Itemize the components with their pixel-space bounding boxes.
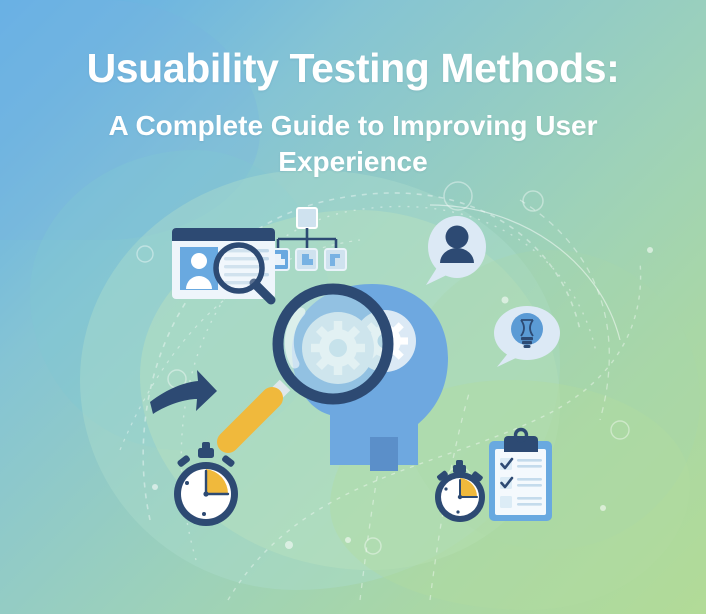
clipboard-icon	[489, 430, 552, 522]
person-speech-bubble	[426, 216, 486, 285]
browser-window-icon	[172, 228, 275, 300]
page-title: Usuability Testing Methods:	[0, 46, 706, 92]
heading-block: Usuability Testing Methods: A Complete G…	[0, 46, 706, 180]
stopwatch-icon	[174, 442, 238, 526]
poster-canvas: Usuability Testing Methods: A Complete G…	[0, 0, 706, 614]
page-subtitle: A Complete Guide to Improving User Exper…	[73, 108, 633, 180]
arrow-right-icon	[150, 370, 217, 414]
stopwatch-icon	[435, 460, 485, 522]
lightbulb-speech-bubble	[494, 306, 560, 367]
sitemap-icon	[268, 208, 346, 270]
